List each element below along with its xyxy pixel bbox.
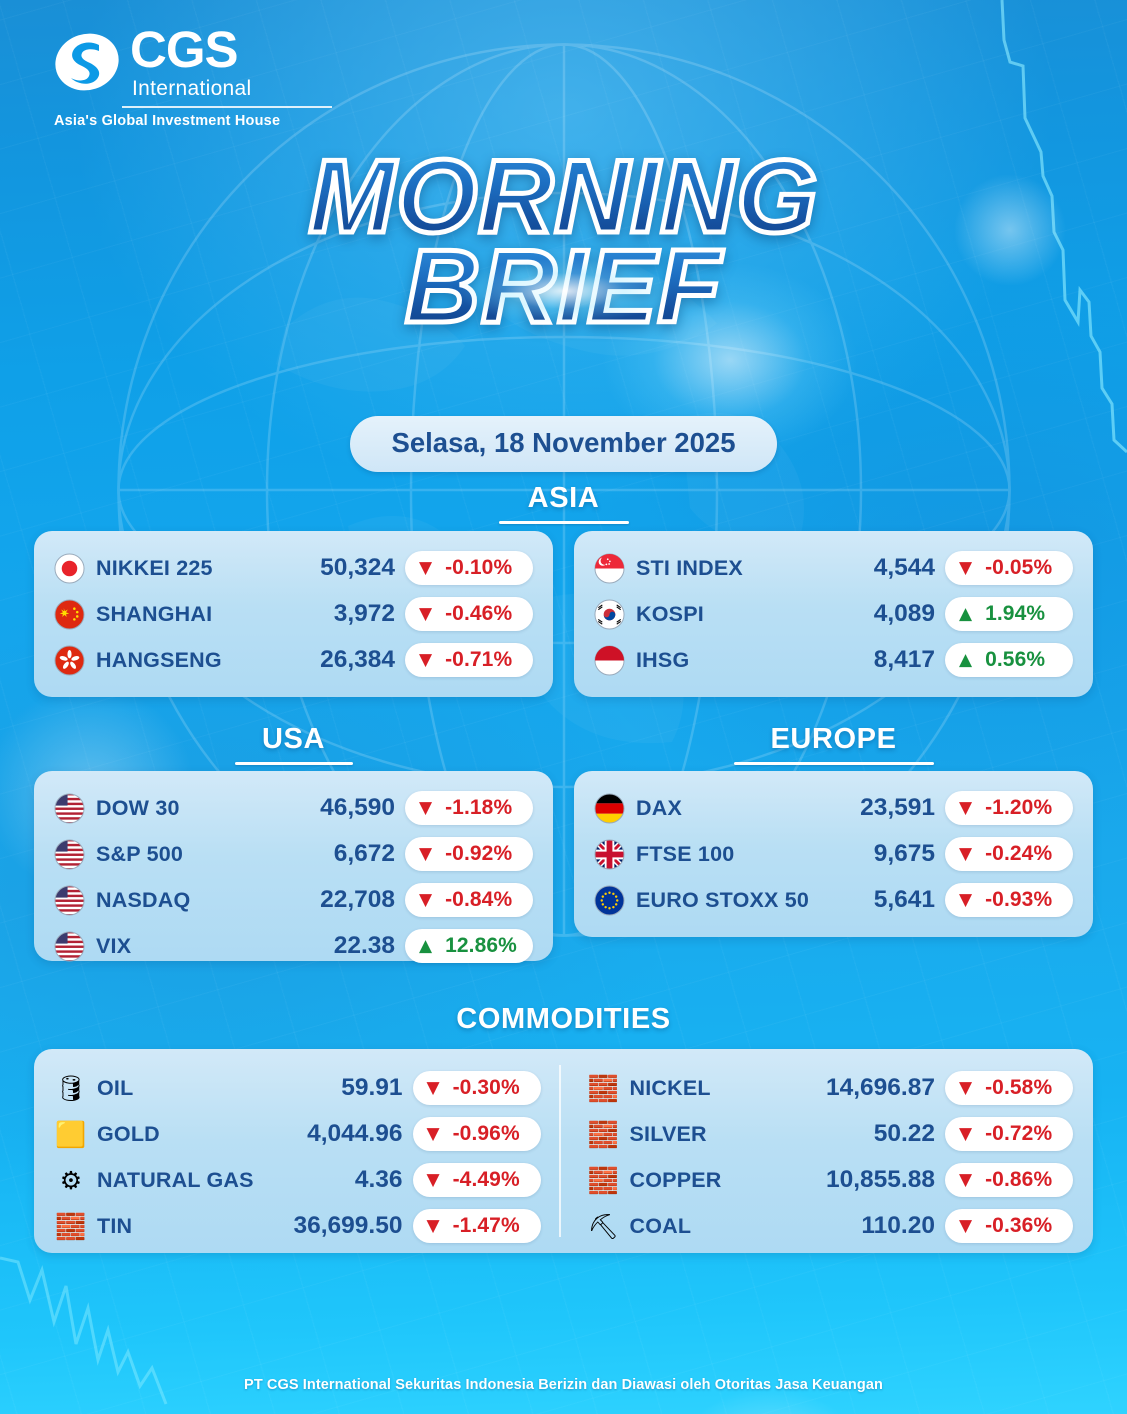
section-header-commodities: COMMODITIES <box>0 1003 1127 1036</box>
flag-us-icon <box>54 793 85 824</box>
section-title-europe: EUROPE <box>770 723 896 755</box>
gas-meter-icon: ⚙ <box>54 1168 88 1193</box>
commodity-name: NICKEL <box>630 1076 711 1101</box>
index-value: 23,591 <box>860 794 945 822</box>
change-percent: -0.30% <box>453 1076 520 1100</box>
change-badge: ▼ -0.58% <box>945 1071 1073 1105</box>
table-row[interactable]: SHANGHAI 3,972 ▼ -0.46% <box>54 591 533 637</box>
change-percent: -0.05% <box>985 556 1052 580</box>
section-title-asia: ASIA <box>528 482 600 514</box>
change-percent: -4.49% <box>453 1168 520 1192</box>
commodity-name: GOLD <box>97 1122 160 1147</box>
change-badge: ▲ 12.86% <box>405 929 533 963</box>
commodity-name: OIL <box>97 1076 133 1101</box>
logo-subname: International <box>132 78 251 99</box>
change-percent: -0.72% <box>985 1122 1052 1146</box>
arrow-up-icon: ▲ <box>419 938 432 955</box>
commodity-value: 59.91 <box>341 1074 412 1102</box>
change-percent: 0.56% <box>985 648 1045 672</box>
table-row[interactable]: DOW 30 46,590 ▼ -1.18% <box>54 785 533 831</box>
commodity-name: NATURAL GAS <box>97 1168 254 1193</box>
table-row[interactable]: EURO STOXX 50 5,641 ▼ -0.93% <box>594 877 1073 923</box>
index-value: 4,544 <box>874 554 945 582</box>
table-row[interactable]: ⛏ COAL 110.20 ▼ -0.36% <box>587 1203 1074 1249</box>
arrow-up-icon: ▲ <box>959 652 972 669</box>
arrow-down-icon: ▼ <box>419 800 432 817</box>
change-percent: -1.20% <box>985 796 1052 820</box>
section-header-europe: EUROPE <box>574 723 1093 765</box>
asia-right-card: STI INDEX 4,544 ▼ -0.05% KOSPI 4,089 ▲ 1… <box>574 531 1093 697</box>
section-header-usa: USA <box>34 723 553 765</box>
change-percent: -0.10% <box>445 556 512 580</box>
index-name: DAX <box>636 796 682 821</box>
commodity-value: 50.22 <box>874 1120 945 1148</box>
index-name: NASDAQ <box>96 888 190 913</box>
index-value: 8,417 <box>874 646 945 674</box>
commodity-value: 110.20 <box>861 1212 945 1240</box>
change-percent: -0.24% <box>985 842 1052 866</box>
title-line-2: BRIEF <box>0 240 1127 336</box>
arrow-down-icon: ▼ <box>959 1126 972 1143</box>
index-value: 26,384 <box>320 646 405 674</box>
index-name: S&P 500 <box>96 842 183 867</box>
table-row[interactable]: DAX 23,591 ▼ -1.20% <box>594 785 1073 831</box>
change-percent: -1.47% <box>453 1214 520 1238</box>
change-badge: ▼ -0.10% <box>405 551 533 585</box>
arrow-down-icon: ▼ <box>959 892 972 909</box>
change-badge: ▼ -0.96% <box>413 1117 541 1151</box>
change-badge: ▼ -0.30% <box>413 1071 541 1105</box>
commodities-card: 🛢 OIL 59.91 ▼ -0.30% 🟨 GOLD 4,044.96 ▼ -… <box>34 1049 1093 1253</box>
logo-name: CGS <box>130 24 251 75</box>
change-percent: -0.92% <box>445 842 512 866</box>
change-percent: 1.94% <box>985 602 1045 626</box>
index-name: NIKKEI 225 <box>96 556 213 581</box>
cgs-logo: CGS International Asia's Global Investme… <box>54 24 332 129</box>
change-badge: ▲ 0.56% <box>945 643 1073 677</box>
gold-bars-icon: 🟨 <box>54 1122 88 1147</box>
arrow-down-icon: ▼ <box>959 560 972 577</box>
index-name: DOW 30 <box>96 796 180 821</box>
copper-ingots-icon: 🧱 <box>587 1168 621 1193</box>
table-row[interactable]: HANGSENG 26,384 ▼ -0.71% <box>54 637 533 683</box>
footer-disclaimer: PT CGS International Sekuritas Indonesia… <box>0 1377 1127 1393</box>
change-badge: ▼ -0.92% <box>405 837 533 871</box>
table-row[interactable]: IHSG 8,417 ▲ 0.56% <box>594 637 1073 683</box>
arrow-down-icon: ▼ <box>959 800 972 817</box>
change-badge: ▼ -0.93% <box>945 883 1073 917</box>
table-row[interactable]: NASDAQ 22,708 ▼ -0.84% <box>54 877 533 923</box>
change-percent: -0.58% <box>985 1076 1052 1100</box>
flag-us-icon <box>54 931 85 962</box>
index-name: VIX <box>96 934 131 959</box>
arrow-down-icon: ▼ <box>419 892 432 909</box>
change-badge: ▲ 1.94% <box>945 597 1073 631</box>
change-badge: ▼ -0.36% <box>945 1209 1073 1243</box>
commodity-value: 36,699.50 <box>294 1212 413 1240</box>
arrow-down-icon: ▼ <box>959 1172 972 1189</box>
section-underline <box>235 762 353 765</box>
table-row[interactable]: 🧱 COPPER 10,855.88 ▼ -0.86% <box>587 1157 1074 1203</box>
tin-ingots-icon: 🧱 <box>54 1214 88 1239</box>
table-row[interactable]: VIX 22.38 ▲ 12.86% <box>54 923 533 969</box>
europe-card: DAX 23,591 ▼ -1.20% FTSE 100 9,675 ▼ -0.… <box>574 771 1093 937</box>
flag-id-icon <box>594 645 625 676</box>
change-badge: ▼ -1.20% <box>945 791 1073 825</box>
flag-hk-icon <box>54 645 85 676</box>
change-percent: -0.96% <box>453 1122 520 1146</box>
table-row[interactable]: ⚙ NATURAL GAS 4.36 ▼ -4.49% <box>54 1157 541 1203</box>
change-percent: -1.18% <box>445 796 512 820</box>
commodities-left-column: 🛢 OIL 59.91 ▼ -0.30% 🟨 GOLD 4,044.96 ▼ -… <box>54 1065 559 1237</box>
change-badge: ▼ -4.49% <box>413 1163 541 1197</box>
table-row[interactable]: STI INDEX 4,544 ▼ -0.05% <box>594 545 1073 591</box>
arrow-down-icon: ▼ <box>419 846 432 863</box>
change-badge: ▼ -1.47% <box>413 1209 541 1243</box>
change-badge: ▼ -0.05% <box>945 551 1073 585</box>
change-badge: ▼ -1.18% <box>405 791 533 825</box>
index-name: FTSE 100 <box>636 842 734 867</box>
silver-ingots-icon: 🧱 <box>587 1122 621 1147</box>
commodity-name: SILVER <box>630 1122 707 1147</box>
arrow-down-icon: ▼ <box>427 1218 440 1235</box>
logo-tagline: Asia's Global Investment House <box>54 113 332 129</box>
index-value: 50,324 <box>320 554 405 582</box>
commodity-value: 4.36 <box>355 1166 413 1194</box>
change-percent: -0.84% <box>445 888 512 912</box>
section-header-asia: ASIA <box>0 482 1127 524</box>
change-percent: -0.86% <box>985 1168 1052 1192</box>
index-value: 5,641 <box>874 886 945 914</box>
index-name: IHSG <box>636 648 689 673</box>
usa-card: DOW 30 46,590 ▼ -1.18% S&P 500 6,672 ▼ -… <box>34 771 553 961</box>
coal-pickaxe-icon: ⛏ <box>587 1214 621 1239</box>
arrow-up-icon: ▲ <box>959 606 972 623</box>
table-row[interactable]: 🟨 GOLD 4,044.96 ▼ -0.96% <box>54 1111 541 1157</box>
flag-cn-icon <box>54 599 85 630</box>
table-row[interactable]: KOSPI 4,089 ▲ 1.94% <box>594 591 1073 637</box>
section-underline <box>734 762 934 765</box>
flag-us-icon <box>54 839 85 870</box>
change-percent: 12.86% <box>445 934 517 958</box>
table-row[interactable]: 🛢 OIL 59.91 ▼ -0.30% <box>54 1065 541 1111</box>
commodity-name: TIN <box>97 1214 132 1239</box>
table-row[interactable]: NIKKEI 225 50,324 ▼ -0.10% <box>54 545 533 591</box>
index-name: EURO STOXX 50 <box>636 888 809 913</box>
index-value: 9,675 <box>874 840 945 868</box>
arrow-down-icon: ▼ <box>427 1172 440 1189</box>
index-value: 22.38 <box>334 932 405 960</box>
change-badge: ▼ -0.46% <box>405 597 533 631</box>
arrow-down-icon: ▼ <box>419 560 432 577</box>
section-title-commodities: COMMODITIES <box>456 1003 670 1035</box>
change-percent: -0.93% <box>985 888 1052 912</box>
flag-de-icon <box>594 793 625 824</box>
arrow-down-icon: ▼ <box>419 652 432 669</box>
asia-left-card: NIKKEI 225 50,324 ▼ -0.10% SHANGHAI 3,97… <box>34 531 553 697</box>
table-row[interactable]: FTSE 100 9,675 ▼ -0.24% <box>594 831 1073 877</box>
change-badge: ▼ -0.72% <box>945 1117 1073 1151</box>
arrow-down-icon: ▼ <box>959 846 972 863</box>
table-row[interactable]: 🧱 NICKEL 14,696.87 ▼ -0.58% <box>587 1065 1074 1111</box>
change-percent: -0.36% <box>985 1214 1052 1238</box>
index-value: 6,672 <box>334 840 405 868</box>
change-badge: ▼ -0.24% <box>945 837 1073 871</box>
arrow-down-icon: ▼ <box>427 1080 440 1097</box>
logo-divider <box>122 106 332 108</box>
change-percent: -0.71% <box>445 648 512 672</box>
arrow-down-icon: ▼ <box>959 1080 972 1097</box>
commodity-name: COPPER <box>630 1168 722 1193</box>
index-name: STI INDEX <box>636 556 743 581</box>
section-underline <box>499 521 629 524</box>
flag-gb-icon <box>594 839 625 870</box>
index-value: 3,972 <box>334 600 405 628</box>
flag-jp-icon <box>54 553 85 584</box>
change-badge: ▼ -0.84% <box>405 883 533 917</box>
arrow-down-icon: ▼ <box>419 606 432 623</box>
commodity-name: COAL <box>630 1214 692 1239</box>
change-badge: ▼ -0.86% <box>945 1163 1073 1197</box>
flag-kr-icon <box>594 599 625 630</box>
table-row[interactable]: 🧱 SILVER 50.22 ▼ -0.72% <box>587 1111 1074 1157</box>
page-title: MORNING BRIEF <box>0 150 1127 335</box>
commodity-value: 4,044.96 <box>307 1120 412 1148</box>
date-badge: Selasa, 18 November 2025 <box>350 416 778 472</box>
change-badge: ▼ -0.71% <box>405 643 533 677</box>
cgs-swirl-logo-icon <box>54 31 120 93</box>
commodity-value: 10,855.88 <box>826 1166 945 1194</box>
oil-barrel-icon: 🛢 <box>54 1076 88 1101</box>
index-name: HANGSENG <box>96 648 222 673</box>
table-row[interactable]: 🧱 TIN 36,699.50 ▼ -1.47% <box>54 1203 541 1249</box>
commodities-right-column: 🧱 NICKEL 14,696.87 ▼ -0.58% 🧱 SILVER 50.… <box>559 1065 1074 1237</box>
flag-eu-icon <box>594 885 625 916</box>
change-percent: -0.46% <box>445 602 512 626</box>
index-value: 46,590 <box>320 794 405 822</box>
index-name: SHANGHAI <box>96 602 212 627</box>
nickel-ingots-icon: 🧱 <box>587 1076 621 1101</box>
commodity-value: 14,696.87 <box>826 1074 945 1102</box>
flag-sg-icon <box>594 553 625 584</box>
index-value: 4,089 <box>874 600 945 628</box>
arrow-down-icon: ▼ <box>959 1218 972 1235</box>
section-title-usa: USA <box>262 723 325 755</box>
table-row[interactable]: S&P 500 6,672 ▼ -0.92% <box>54 831 533 877</box>
index-name: KOSPI <box>636 602 704 627</box>
flag-us-icon <box>54 885 85 916</box>
index-value: 22,708 <box>320 886 405 914</box>
arrow-down-icon: ▼ <box>427 1126 440 1143</box>
